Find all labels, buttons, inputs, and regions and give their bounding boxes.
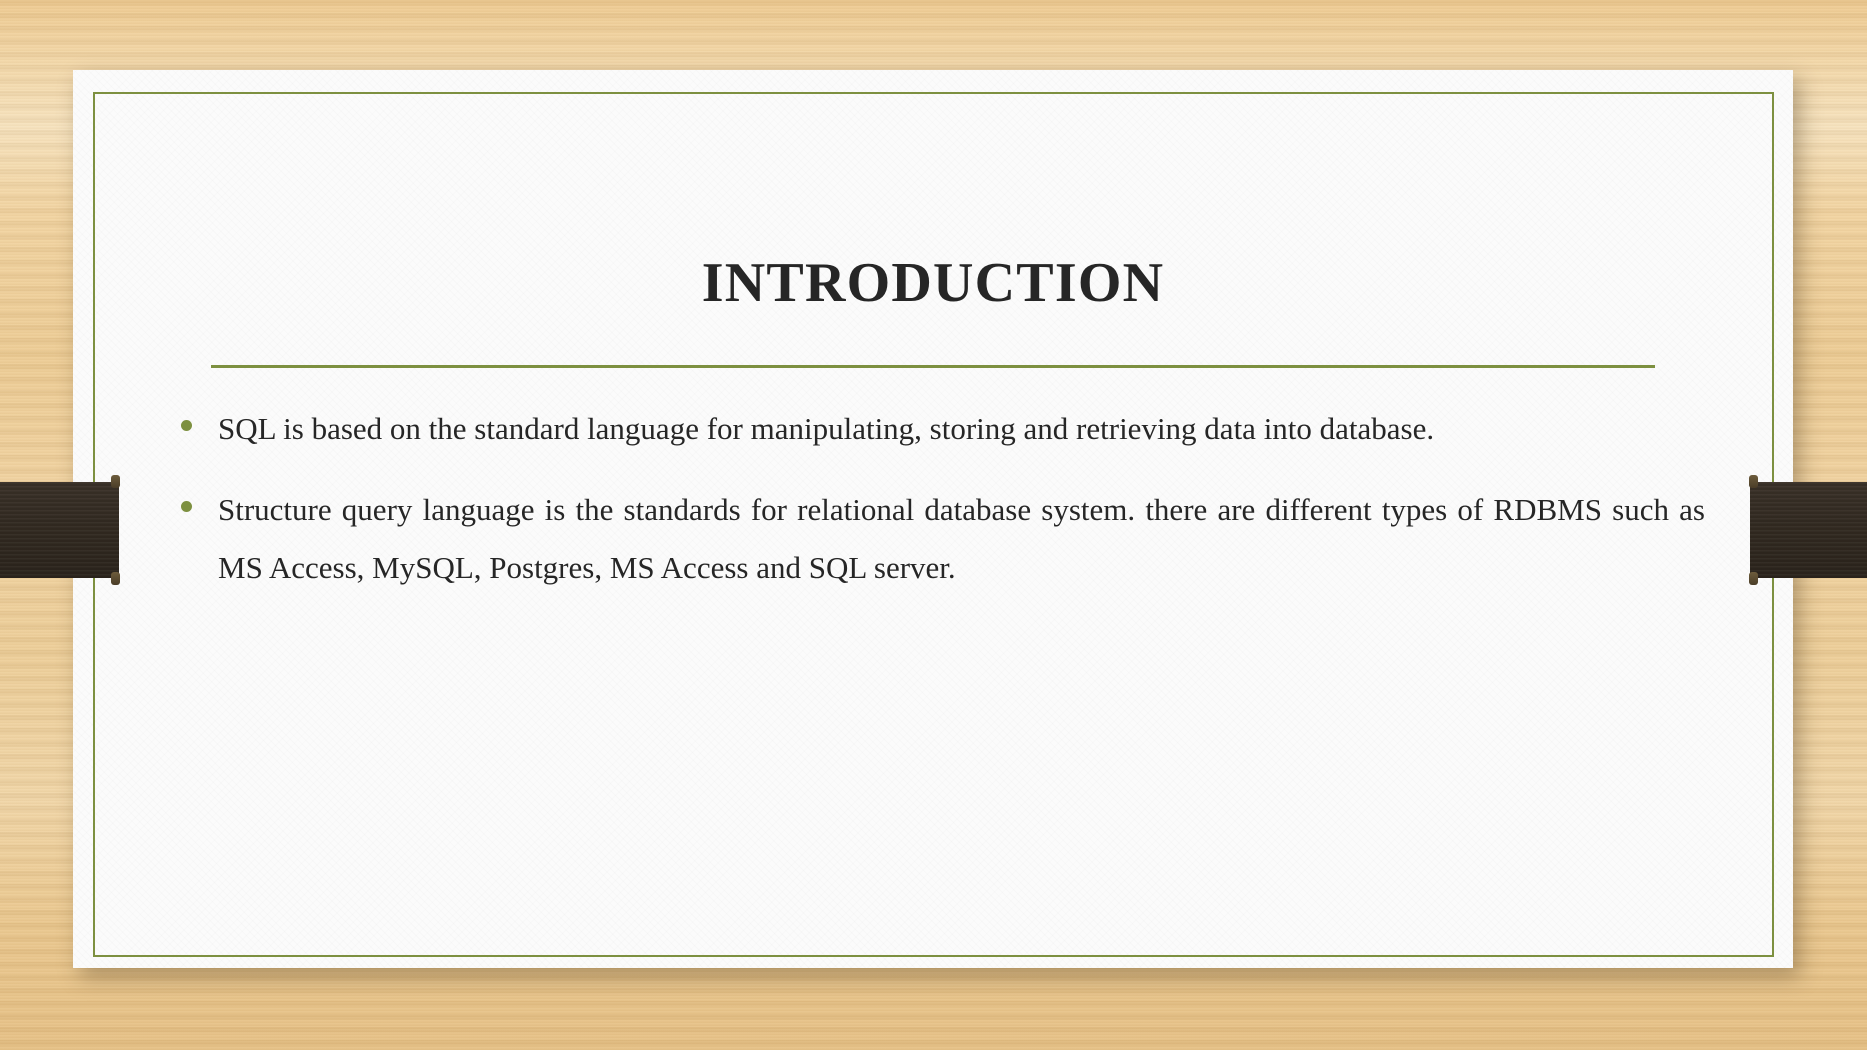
ribbon-tab-right [1750, 482, 1867, 578]
bullet-item-text: SQL is based on the standard language fo… [218, 411, 1434, 446]
slide-content: INTRODUCTION SQL is based on the standar… [73, 70, 1793, 968]
bullet-item: SQL is based on the standard language fo… [173, 400, 1705, 457]
bullet-item: Structure query language is the standard… [173, 481, 1705, 596]
ribbon-cap-top-left-icon [111, 475, 120, 488]
ribbon-cap-bottom-right-icon [1749, 572, 1758, 585]
bullet-dot-icon [181, 420, 192, 431]
ribbon-tab-left [0, 482, 119, 578]
ribbon-cap-bottom-left-icon [111, 572, 120, 585]
ribbon-cap-top-right-icon [1749, 475, 1758, 488]
bullet-dot-icon [181, 501, 192, 512]
bullet-item-text: Structure query language is the standard… [218, 492, 1705, 584]
title-divider-rule [211, 365, 1655, 368]
slide-stage: INTRODUCTION SQL is based on the standar… [0, 0, 1867, 1050]
presentation-slide: INTRODUCTION SQL is based on the standar… [73, 70, 1793, 968]
slide-title: INTRODUCTION [73, 255, 1793, 311]
bullet-list: SQL is based on the standard language fo… [173, 400, 1705, 596]
